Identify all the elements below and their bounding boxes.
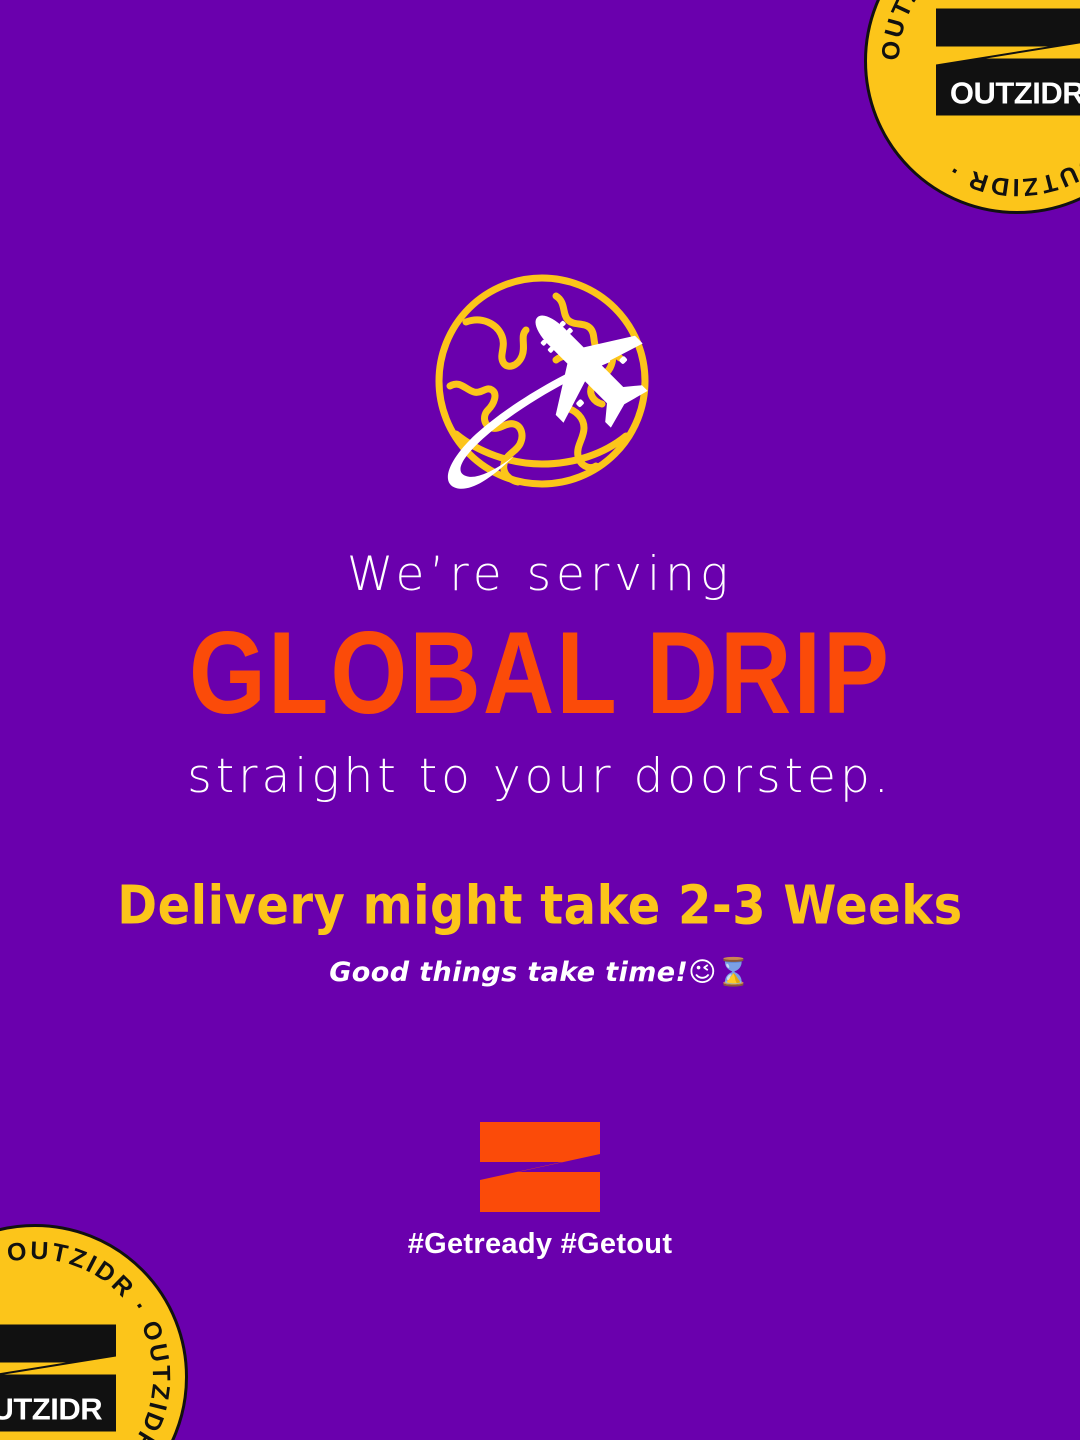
wink-hourglass-emoji: 😉⌛ bbox=[688, 957, 751, 988]
doorstep-line: straight to your doorstep. bbox=[0, 750, 1080, 804]
outzidr-seal-top-right: OUTZIDR · OUTZIDR · OUTZIDR · OUTZIDR · … bbox=[864, 0, 1080, 214]
good-things-note: Good things take time!😉⌛ bbox=[0, 956, 1080, 988]
copy-block: We’re serving GLOBAL DRIP straight to yo… bbox=[0, 548, 1080, 988]
seal-wordmark-bl: OUTZIDR bbox=[0, 1389, 116, 1432]
seal-core-tr: OUTZIDR bbox=[934, 7, 1080, 116]
hero-graphic bbox=[0, 268, 1080, 503]
seal-wordmark-tr: OUTZIDR bbox=[936, 73, 1080, 116]
outzidr-seal-bottom-left: OUTZIDR · OUTZIDR · OUTZIDR · OUTZIDR · … bbox=[0, 1224, 188, 1440]
good-things-text: Good things take time! bbox=[329, 957, 688, 988]
delivery-estimate: Delivery might take 2-3 Weeks bbox=[0, 874, 1080, 937]
outzidr-z-logo bbox=[478, 1120, 602, 1214]
promo-poster: We’re serving GLOBAL DRIP straight to yo… bbox=[0, 0, 1080, 1440]
globe-airplane-icon bbox=[370, 268, 710, 498]
serving-line: We’re serving bbox=[0, 548, 1080, 602]
headline-global-drip: GLOBAL DRIP bbox=[0, 608, 1080, 739]
seal-core-bl: OUTZIDR bbox=[0, 1323, 118, 1432]
